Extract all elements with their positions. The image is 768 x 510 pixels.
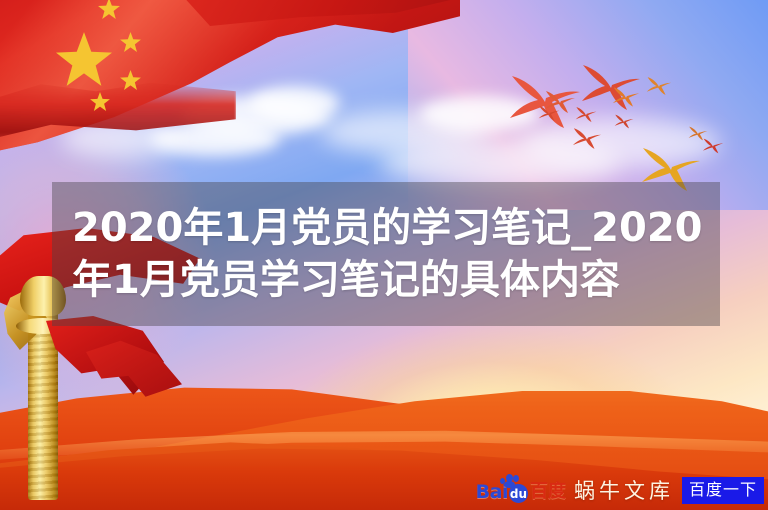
page-title-line-1: 2020年1月党员的学习笔记_2020 <box>72 202 700 254</box>
baidu-search-button[interactable]: 百度一下 <box>682 477 764 504</box>
baidu-logo[interactable]: Bai du 百度 <box>476 477 566 503</box>
flag-star-small <box>120 32 141 52</box>
dove-icon <box>538 105 560 122</box>
dove-icon <box>612 86 640 108</box>
page-title-line-2: 年1月党员学习笔记的具体内容 <box>72 254 700 306</box>
flag-star-small <box>120 70 141 90</box>
flag-star-large <box>56 32 112 86</box>
poster-image: 2020年1月党员的学习笔记_2020 年1月党员学习笔记的具体内容 Bai d… <box>0 0 768 510</box>
dove-icon <box>646 76 672 96</box>
title-overlay: 2020年1月党员的学习笔记_2020 年1月党员学习笔记的具体内容 <box>52 182 720 326</box>
dove-icon <box>702 138 724 154</box>
flag-star-small <box>98 0 120 19</box>
paw-print-icon <box>500 474 520 488</box>
dove-icon <box>614 114 634 129</box>
watermark-bar: Bai du 百度 蜗牛文库 百度一下 <box>476 474 764 506</box>
chinese-flag <box>0 0 460 180</box>
dove-icon <box>572 127 602 150</box>
flag-star-small <box>90 92 110 111</box>
baidu-chinese-text: 百度 <box>530 477 566 503</box>
dove-icon <box>575 106 597 123</box>
brand-name: 蜗牛文库 <box>574 475 674 505</box>
